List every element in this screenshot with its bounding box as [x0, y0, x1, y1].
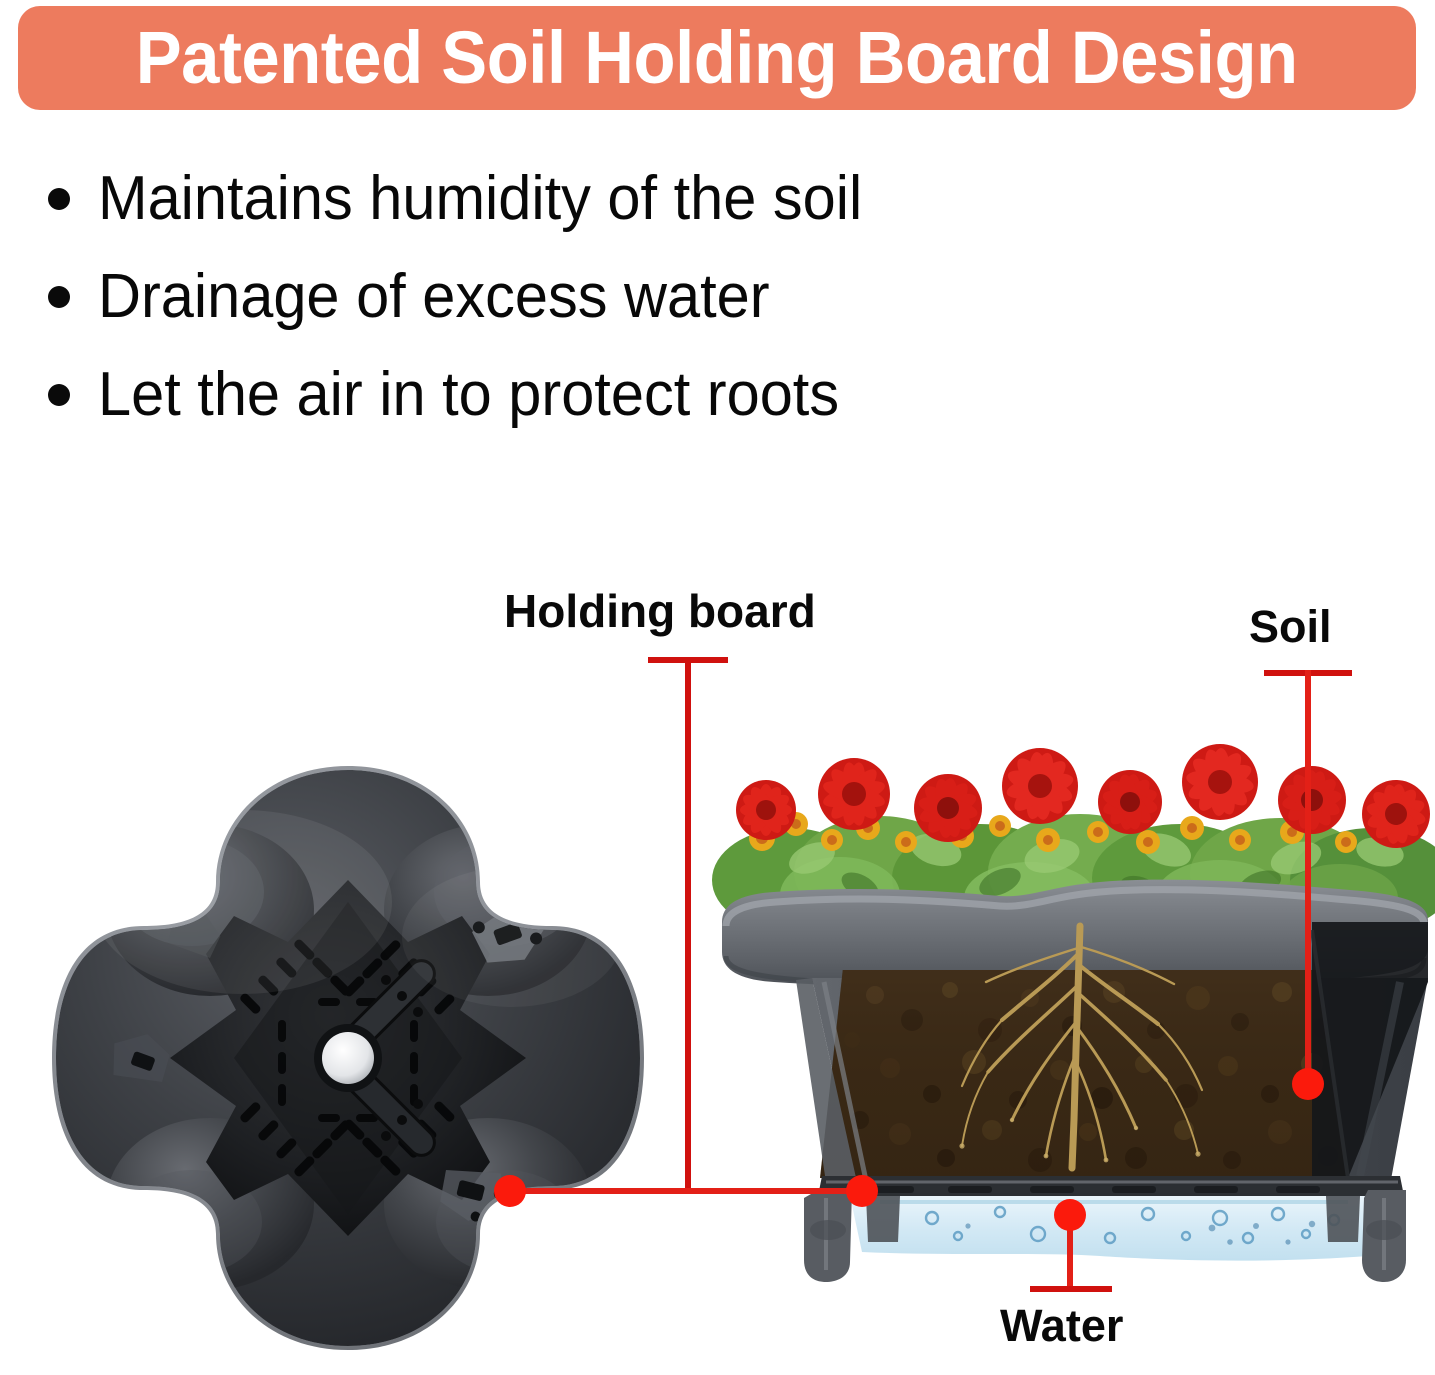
soil-leader-stem [1305, 670, 1311, 1082]
callout-label-soil: Soil [1249, 604, 1332, 649]
reservoir-leg-left [804, 1190, 852, 1282]
holding-board-leader-stem [685, 657, 691, 1194]
list-item: Drainage of excess water [48, 248, 1148, 346]
holding-board-leader-rail [510, 1188, 866, 1194]
planter-topview-image [42, 752, 654, 1364]
bullet-dot-icon [48, 384, 70, 406]
holding-board-marker-dot-right [846, 1175, 878, 1207]
reservoir-leg-right [1362, 1190, 1406, 1282]
bullet-dot-icon [48, 286, 70, 308]
center-drain-hole [314, 1024, 382, 1092]
infographic-page: Patented Soil Holding Board Design Maint… [0, 0, 1435, 1375]
list-item: Maintains humidity of the soil [48, 150, 1148, 248]
list-item: Let the air in to protect roots [48, 346, 1148, 444]
planter-inner-bowl [56, 770, 640, 1346]
bullet-text: Drainage of excess water [98, 266, 770, 328]
water-reservoir [804, 1190, 1406, 1282]
holding-board-marker-dot-left [494, 1175, 526, 1207]
feature-bullet-list: Maintains humidity of the soil Drainage … [48, 150, 1148, 444]
bullet-dot-icon [48, 188, 70, 210]
water-leader-bar [1030, 1286, 1112, 1292]
page-title: Patented Soil Holding Board Design [136, 21, 1298, 95]
callout-label-holding-board: Holding board [504, 588, 816, 634]
callout-label-water: Water [1000, 1303, 1123, 1348]
water-marker-dot [1054, 1199, 1086, 1231]
header-banner: Patented Soil Holding Board Design [18, 6, 1416, 110]
holding-board-layer [818, 1176, 1404, 1196]
bullet-text: Maintains humidity of the soil [98, 168, 862, 230]
soil-marker-dot [1292, 1068, 1324, 1100]
bullet-text: Let the air in to protect roots [98, 364, 839, 426]
